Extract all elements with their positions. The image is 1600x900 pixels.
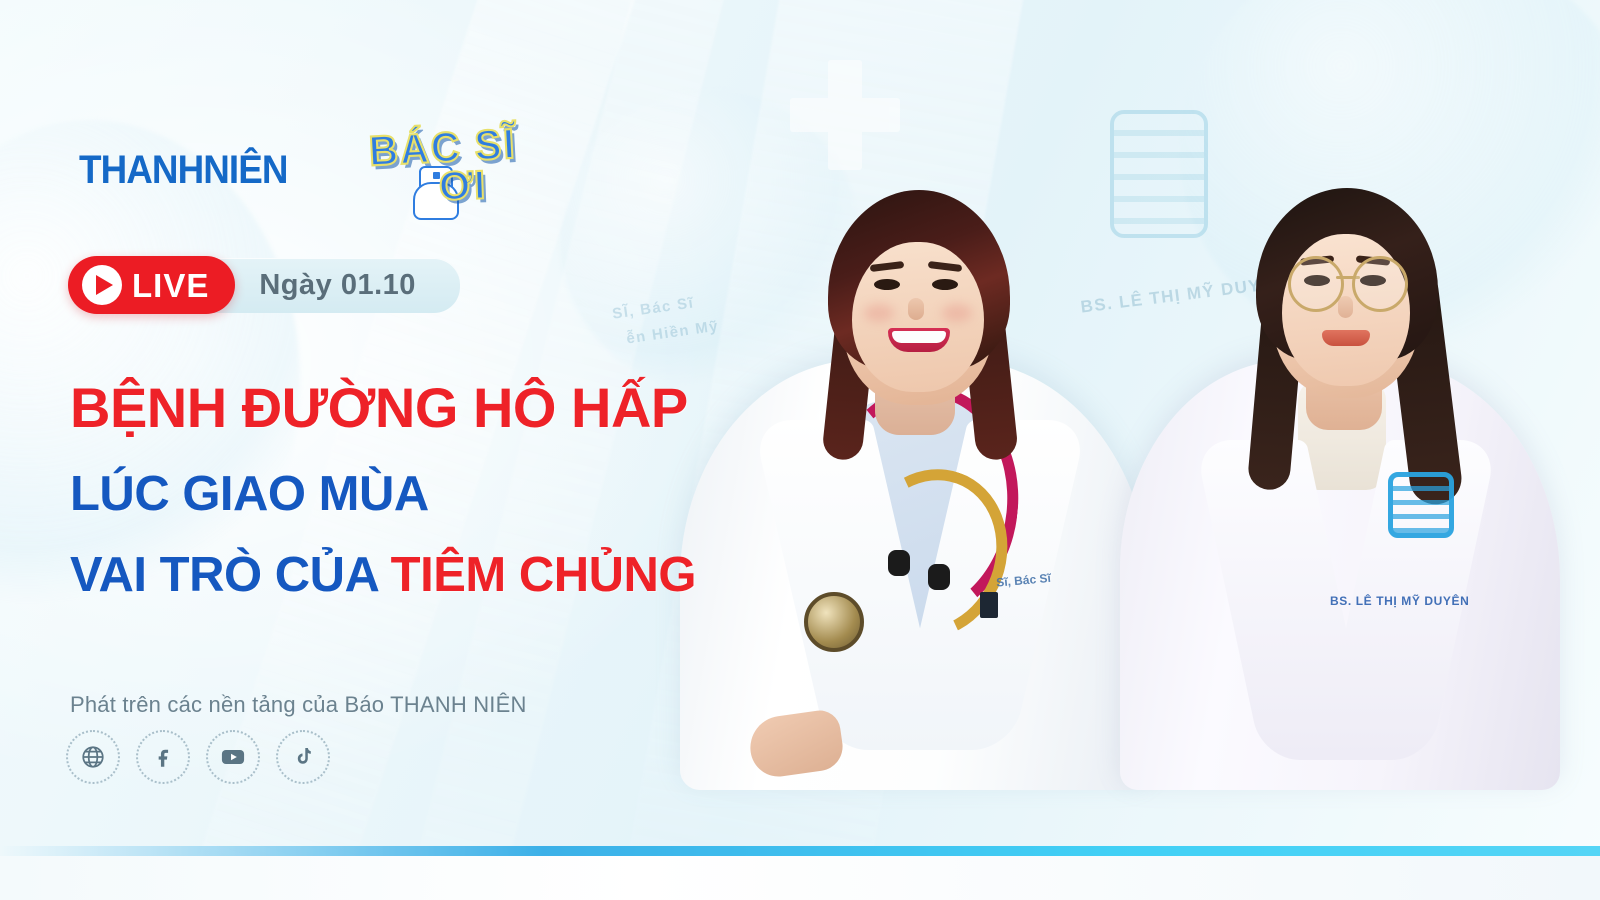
headline-line-3-blue: VAI TRÒ CỦA [70,548,378,602]
doctor-1-coat-badge [980,592,998,618]
date-pill: Ngày 01.10 [207,258,460,313]
platform-note: Phát trên các nền tảng của Báo THANH NIÊ… [70,692,527,718]
doctor-2-nose [1338,296,1353,318]
hospital-logo-icon [1388,472,1454,538]
livestream-banner: SĨ, Bác Sĩ ễn Hiền Mỹ BS. LÊ THỊ MỸ DUYÊ… [0,0,1600,900]
stethoscope-bell [804,592,864,652]
doctor-1-cheek [864,304,894,322]
thanhnien-logo[interactable]: THANHNIÊN [79,148,287,193]
bacsioi-logo-bottom: ƠI [438,163,487,210]
date-label: Ngày 01.10 [259,269,416,301]
doctor-2-coat-embroidery: BS. LÊ THỊ MỸ DUYÊN [1330,594,1520,608]
bacsioi-logo[interactable]: BÁC SĨ ƠI [355,124,551,216]
doctor-2-figure: BS. LÊ THỊ MỸ DUYÊN [1120,70,1560,790]
headline-line-1: BỆNH ĐƯỜNG HÔ HẤP [70,380,810,436]
doctor-1-eye [932,279,958,290]
play-icon [82,265,122,305]
doctor-1-eye [874,279,900,290]
doctor-2-mouth [1322,330,1370,346]
stethoscope-earpiece [888,550,910,576]
stethoscope-earpiece [928,564,950,590]
doctor-1-cheek [942,304,972,322]
doctor-1-mouth [888,328,950,352]
live-badge[interactable]: LIVE [68,256,235,314]
headline-line-3: VAI TRÒ CỦA TIÊM CHỦNG [70,551,810,600]
doctor-1-nose [908,298,924,320]
page-title: BỆNH ĐƯỜNG HÔ HẤP LÚC GIAO MÙA VAI TRÒ C… [70,380,810,600]
bottom-white-bar [0,856,1600,900]
headline-line-3-red: TIÊM CHỦNG [391,548,696,602]
live-date-row: LIVE Ngày 01.10 [68,256,460,314]
brand-row: THANHNIÊN BÁC SĨ ƠI [70,124,551,216]
headline-line-2: LÚC GIAO MÙA [70,470,810,519]
bottom-accent-strip [0,846,1600,856]
live-label: LIVE [132,269,209,302]
